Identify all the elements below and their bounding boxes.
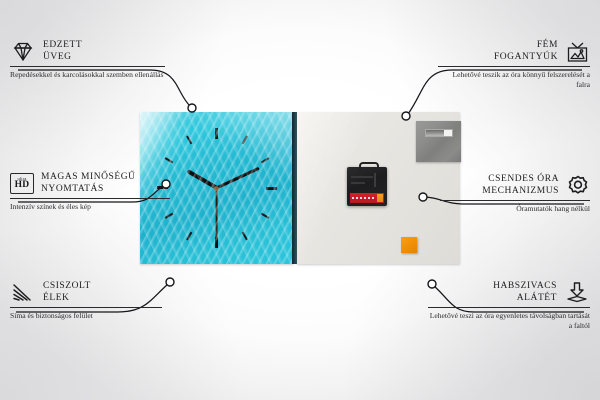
feature-description: Intenzív színek és éles kép [10, 202, 170, 212]
feature-divider [10, 66, 165, 67]
clock-tick-7 [186, 188, 218, 241]
feature-title: CSISZOLT ÉLEK [43, 281, 91, 304]
feature-divider [428, 307, 590, 308]
feature-divider [440, 200, 590, 201]
feature-header: CSENDES ÓRA MECHANIZMUS [440, 174, 590, 197]
mechanism-detail [351, 176, 373, 178]
feature-divider [438, 66, 590, 67]
diamond-icon [10, 41, 36, 62]
feature-magas-minoseg: ultra HD MAGAS MINŐSÉGŰ NYOMTATÁS Intenz… [10, 172, 170, 212]
clock-hour-hand [186, 169, 217, 189]
feature-title: CSENDES ÓRA MECHANIZMUS [482, 174, 559, 197]
polished-edges-icon [10, 282, 36, 303]
clock-tick-10 [164, 157, 217, 189]
clock-tick-4 [216, 187, 269, 219]
metal-hanger-plate [416, 121, 461, 162]
clock-tick-11 [186, 136, 218, 189]
feature-csiszolt-elek: CSISZOLT ÉLEK Sima és biztonságos felüle… [10, 281, 162, 321]
ultra-hd-icon: ultra HD [10, 173, 34, 194]
feature-header: FÉM FOGANTYÚK [438, 40, 590, 63]
infographic-canvas: EDZETT ÜVEG Repedésekkel és karcolásokka… [0, 0, 600, 400]
clock-tick-6 [216, 188, 218, 248]
clock-second-hand [216, 188, 218, 240]
feature-description: Sima és biztonságos felület [10, 311, 162, 321]
feature-divider [10, 307, 162, 308]
feature-description: Lehetővé teszik az óra könnyű felszerelé… [438, 70, 590, 89]
feature-header: EDZETT ÜVEG [10, 40, 165, 63]
clock-tick-3 [217, 187, 277, 189]
picture-hanger-icon [565, 41, 590, 63]
wire-endpoint-edzett [188, 104, 196, 112]
clock-tick-12 [216, 128, 218, 188]
feature-header: HABSZIVACS ALÁTÉT [428, 281, 590, 304]
clock-tick-8 [164, 187, 217, 219]
foam-spacer-pad [401, 237, 417, 253]
wire-endpoint-csiszolt [166, 278, 174, 286]
clock-minute-hand [216, 167, 260, 190]
clock-tick-2 [216, 157, 269, 189]
hanger-slot [425, 129, 453, 137]
product-image [140, 112, 460, 264]
feature-fem-fogantyuk: FÉM FOGANTYÚK Lehetővé teszik az óra kön… [438, 40, 590, 89]
clock-back-panel [297, 112, 460, 264]
mechanism-detail [351, 182, 365, 184]
feature-title: HABSZIVACS ALÁTÉT [493, 281, 557, 304]
gear-icon [566, 174, 590, 197]
feature-habszivacs: HABSZIVACS ALÁTÉT Lehetővé teszi az óra … [428, 281, 590, 330]
mechanism-handle [359, 162, 379, 171]
battery-label [350, 193, 384, 203]
feature-divider [10, 198, 170, 199]
feature-description: Óramutatók hang nélkül [440, 204, 590, 214]
mechanism-detail [374, 173, 376, 187]
clock-mechanism [347, 167, 387, 206]
feature-title: EDZETT ÜVEG [43, 40, 82, 63]
clock-tick-1 [216, 136, 248, 189]
clock-tick-5 [216, 188, 248, 241]
clock-center-cap [214, 186, 219, 191]
feature-csendes-ora: CSENDES ÓRA MECHANIZMUS Óramutatók hang … [440, 174, 590, 214]
feature-title: FÉM FOGANTYÚK [494, 40, 558, 63]
feature-description: Lehetővé teszi az óra egyenletes távolsá… [428, 311, 590, 330]
feature-description: Repedésekkel és karcolásokkal szemben el… [10, 70, 165, 80]
feature-edzett-uveg: EDZETT ÜVEG Repedésekkel és karcolásokka… [10, 40, 165, 80]
feature-header: CSISZOLT ÉLEK [10, 281, 162, 304]
feature-title: MAGAS MINŐSÉGŰ NYOMTATÁS [41, 172, 136, 195]
feature-header: ultra HD MAGAS MINŐSÉGŰ NYOMTATÁS [10, 172, 170, 195]
foam-pad-arrow-icon [564, 281, 590, 304]
